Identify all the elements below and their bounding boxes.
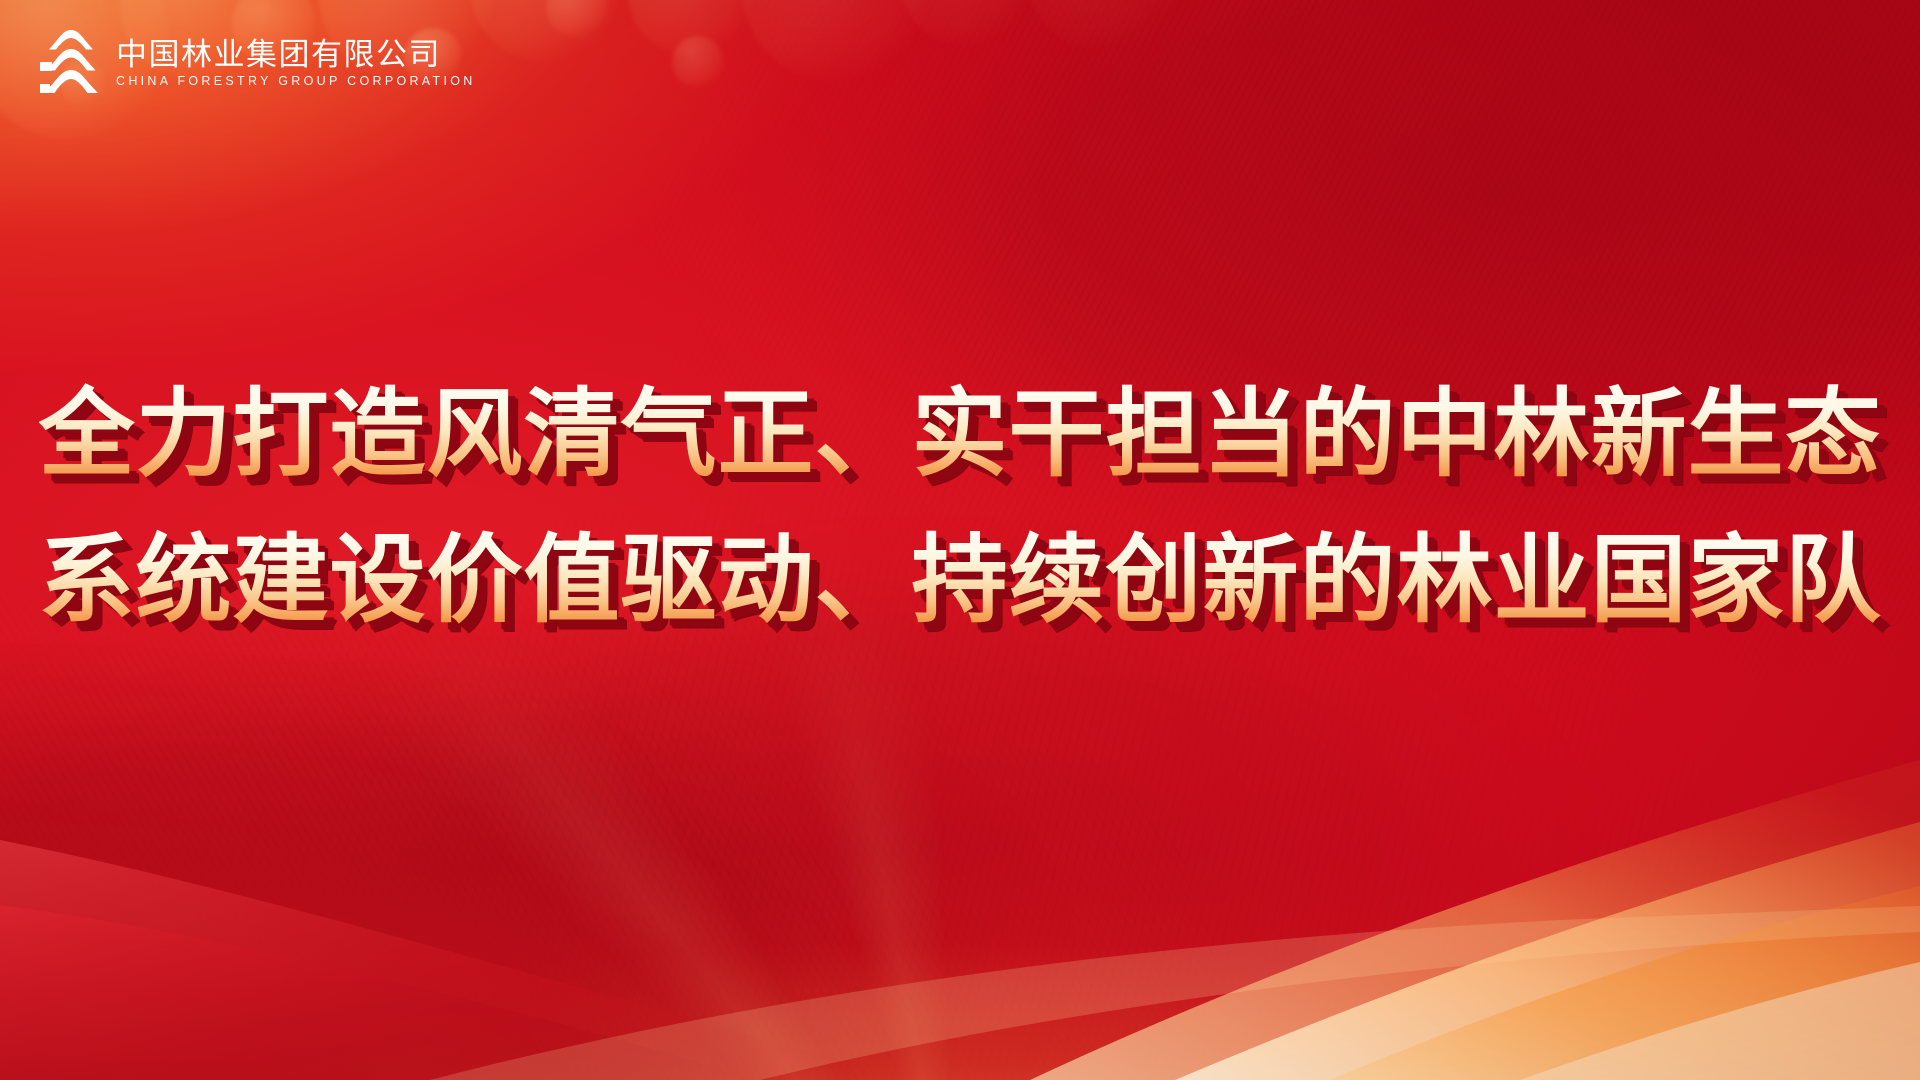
company-name-cn: 中国林业集团有限公司 (116, 39, 476, 70)
headline-line-1: 全力打造风清气正、实干担当的中林新生态 (0, 362, 1920, 508)
headline-line-2: 系统建设价值驱动、持续创新的林业国家队 (0, 508, 1920, 654)
brand-logo-text: 中国林业集团有限公司 CHINA FORESTRY GROUP CORPORAT… (116, 35, 476, 88)
promotional-banner: 中国林业集团有限公司 CHINA FORESTRY GROUP CORPORAT… (0, 0, 1920, 1080)
brand-logo: 中国林业集团有限公司 CHINA FORESTRY GROUP CORPORAT… (40, 28, 476, 94)
china-forestry-group-pagoda-mark (40, 28, 102, 94)
company-name-en: CHINA FORESTRY GROUP CORPORATION (116, 75, 476, 88)
headline-slogan: 全力打造风清气正、实干担当的中林新生态 系统建设价值驱动、持续创新的林业国家队 (0, 362, 1920, 654)
headline-line-1-text: 全力打造风清气正、实干担当的中林新生态 (39, 381, 1882, 488)
headline-line-2-text: 系统建设价值驱动、持续创新的林业国家队 (39, 527, 1882, 634)
